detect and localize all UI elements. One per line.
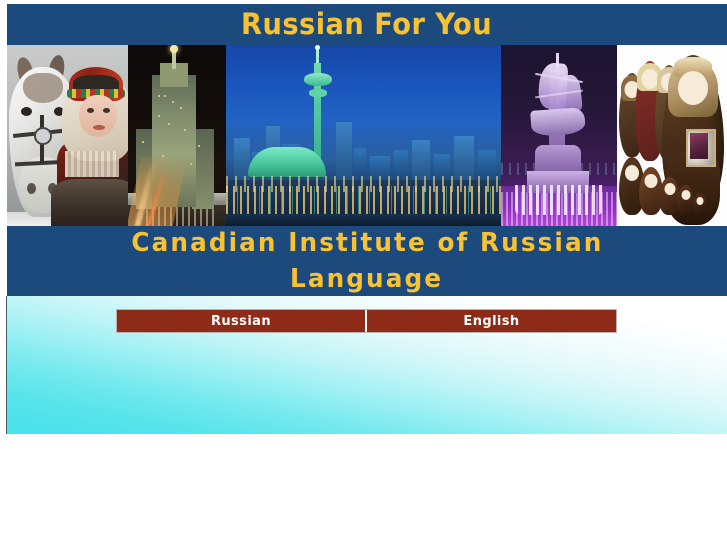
matryoshka-face <box>625 165 639 181</box>
horse-nostril-left <box>27 183 36 194</box>
toronto-city-lights-lower <box>226 186 501 216</box>
language-selection-bar: Russian English <box>117 310 616 332</box>
banner-photo-moscow-highrise-night <box>128 45 226 226</box>
banner-photo-strip <box>7 45 727 226</box>
institute-name-bar: Canadian Institute of Russian Language <box>7 226 727 296</box>
horse-eye-left <box>21 107 32 116</box>
banner-photo-girl-with-white-horse <box>7 45 128 226</box>
cn-tower-tip-light <box>315 45 320 50</box>
girl-eye-right <box>103 108 110 113</box>
matryoshka-face <box>664 183 675 195</box>
horse-forelock <box>23 73 63 103</box>
toronto-building <box>336 122 352 184</box>
language-button-russian[interactable]: Russian <box>117 310 367 332</box>
matryoshka-large-face <box>678 71 708 105</box>
cn-tower-observation-pod <box>304 73 332 86</box>
toronto-rogers-centre-dome <box>248 147 326 177</box>
moscow-tower-star <box>170 45 178 53</box>
banner-photo-toronto-cn-tower-skyline <box>226 45 501 226</box>
matryoshka-face <box>642 69 659 89</box>
page-root: Russian For You <box>0 0 727 545</box>
institute-name-line-2: Language <box>290 261 443 297</box>
matryoshka-small-doll-4 <box>677 185 694 215</box>
peter-fountain-jets <box>515 185 603 215</box>
matryoshka-face <box>681 190 690 200</box>
girl-face <box>79 95 117 137</box>
horse-bridle-medallion <box>34 127 52 145</box>
matryoshka-small-doll-5 <box>693 193 707 215</box>
matryoshka-face <box>697 197 704 205</box>
girl-shawl-fringe <box>65 151 119 177</box>
page-title: Russian For You <box>241 10 492 39</box>
girl-fur-coat <box>51 179 128 226</box>
matryoshka-held-icon-image <box>690 133 708 159</box>
cn-tower-lower-pod <box>309 89 327 97</box>
institute-name-line-1: Canadian Institute of Russian <box>131 225 603 261</box>
banner-photo-matryoshka-dolls <box>617 45 727 226</box>
language-button-english[interactable]: English <box>367 310 616 332</box>
banner-photo-peter-the-great-monument <box>501 45 617 226</box>
matryoshka-face <box>645 174 658 188</box>
girl-mouth <box>93 125 105 130</box>
girl-eye-left <box>87 108 94 113</box>
site-title-bar: Russian For You <box>7 4 727 45</box>
